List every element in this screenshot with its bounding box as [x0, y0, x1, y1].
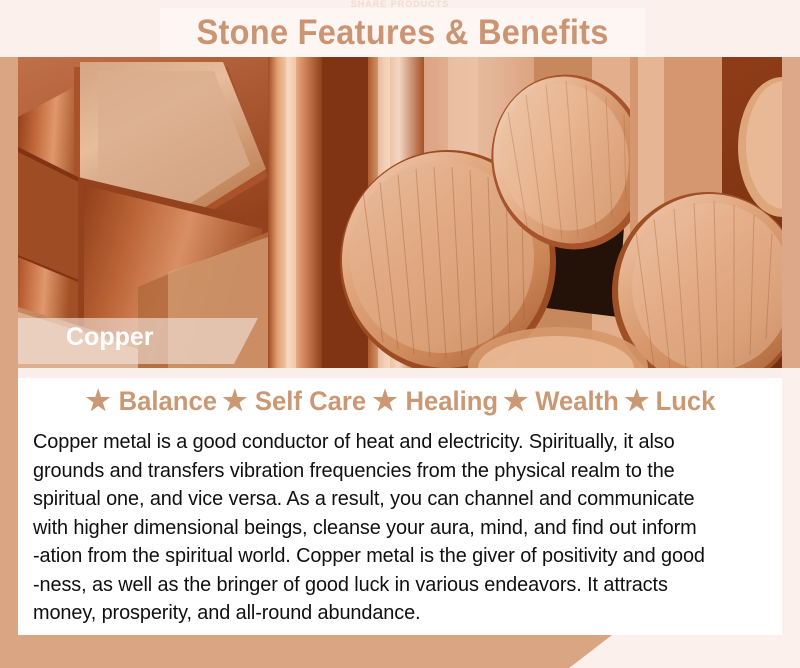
description-line: money, prosperity, and all-round abundan…	[33, 599, 751, 628]
description-line: Copper metal is a good conductor of heat…	[33, 428, 751, 457]
benefit-item-balance: ★Balance	[83, 386, 220, 417]
benefits-list: ★Balance ★Self Care ★Healing ★Wealth ★Lu…	[18, 378, 782, 424]
left-accent-rail-lower	[0, 635, 18, 668]
description-text: Copper metal is a good conductor of heat…	[33, 428, 773, 628]
benefit-item-luck: ★Luck	[621, 386, 717, 417]
benefit-item-healing: ★Healing	[369, 386, 500, 417]
photo-bottom-strip	[18, 368, 782, 378]
section-title-bar: Stone Features & Benefits	[160, 8, 645, 57]
star-icon: ★	[222, 387, 247, 415]
star-icon: ★	[503, 387, 528, 415]
benefit-label: Self Care	[255, 386, 366, 417]
left-accent-rail	[0, 57, 18, 668]
product-info-card: SHARE PRODUCTS Stone Features & Benefits	[0, 0, 800, 668]
benefit-label: Luck	[656, 386, 716, 417]
star-icon: ★	[372, 387, 397, 415]
benefit-item-self-care: ★Self Care	[219, 386, 369, 417]
description-line: -ation from the spiritual world. Copper …	[33, 542, 751, 571]
faint-top-label: SHARE PRODUCTS	[0, 0, 800, 8]
right-accent-rail	[782, 57, 800, 368]
description-panel: ★Balance ★Self Care ★Healing ★Wealth ★Lu…	[18, 378, 782, 635]
star-icon: ★	[86, 387, 111, 415]
bottom-accent-bar	[0, 635, 612, 668]
benefit-label: Wealth	[535, 386, 619, 417]
description-line: -ness, as well as the bringer of good lu…	[33, 571, 751, 600]
page-title: Stone Features & Benefits	[196, 13, 608, 53]
benefit-label: Balance	[118, 386, 216, 417]
star-icon: ★	[624, 387, 649, 415]
description-line: spiritual one, and vice versa. As a resu…	[33, 485, 751, 514]
benefit-item-wealth: ★Wealth	[500, 386, 621, 417]
description-line: with higher dimensional beings, cleanse …	[33, 514, 751, 543]
benefit-label: Healing	[405, 386, 498, 417]
description-line: grounds and transfers vibration frequenc…	[33, 457, 751, 486]
photo-caption-label: Copper	[66, 323, 154, 352]
